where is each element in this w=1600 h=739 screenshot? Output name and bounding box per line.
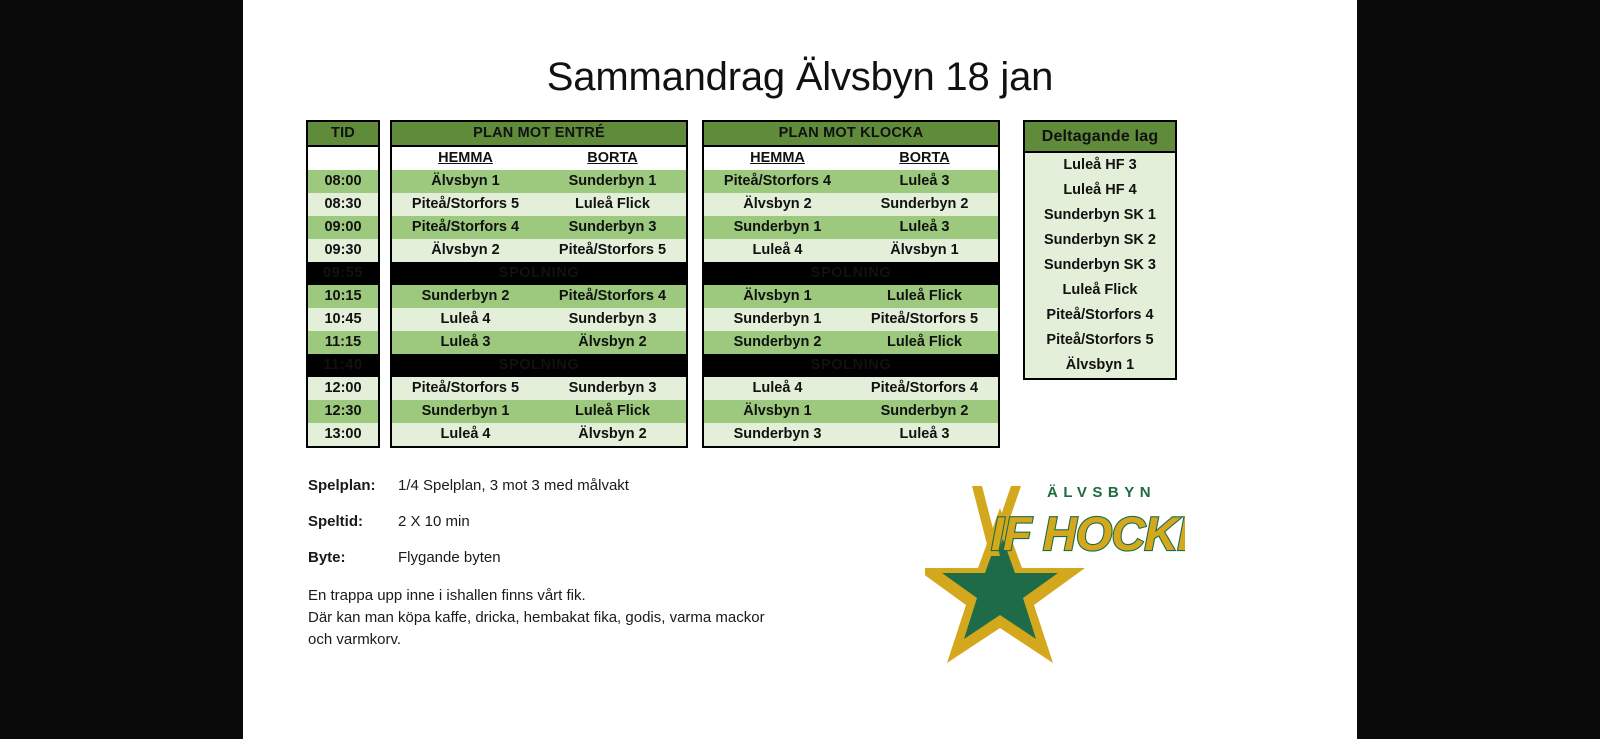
home-team-cell: Sunderbyn 3 xyxy=(704,423,851,446)
table-row: SPOLNING xyxy=(704,262,998,285)
rink-table-entre: PLAN MOT ENTRÉHEMMABORTAÄlvsbyn 1Sunderb… xyxy=(390,120,688,448)
table-row xyxy=(308,146,378,170)
list-item: Piteå/Storfors 4 xyxy=(1025,303,1175,328)
rink-klocka-table: PLAN MOT KLOCKAHEMMABORTAPiteå/Storfors … xyxy=(704,122,998,446)
home-column-header: HEMMA xyxy=(392,146,539,170)
time-column-subheader-blank xyxy=(308,146,378,170)
away-team-cell: Älvsbyn 1 xyxy=(851,239,998,262)
time-cell: 11:15 xyxy=(308,331,378,354)
home-team-cell: Luleå 3 xyxy=(392,331,539,354)
home-team-cell: Älvsbyn 1 xyxy=(704,285,851,308)
away-team-cell: Luleå 3 xyxy=(851,216,998,239)
participating-teams-header: Deltagande lag xyxy=(1025,122,1175,152)
info-row: Byte:Flygande byten xyxy=(308,549,888,566)
info-row: Spelplan:1/4 Spelplan, 3 mot 3 med målva… xyxy=(308,477,888,494)
away-team-cell: Luleå 3 xyxy=(851,423,998,446)
time-cell: 10:45 xyxy=(308,308,378,331)
fika-note: En trappa upp inne i ishallen finns vårt… xyxy=(308,585,888,650)
home-team-cell: Piteå/Storfors 5 xyxy=(392,377,539,400)
rink-entre-header: PLAN MOT ENTRÉ xyxy=(392,122,686,146)
table-row: Luleå 4Piteå/Storfors 4 xyxy=(704,377,998,400)
home-team-cell: Älvsbyn 1 xyxy=(704,400,851,423)
time-table-body: TID 08:0008:3009:0009:3009:5510:1510:451… xyxy=(308,122,378,446)
home-team-cell: Älvsbyn 1 xyxy=(392,170,539,193)
document-page: Sammandrag Älvsbyn 18 jan TID 08:0008:30… xyxy=(243,0,1357,739)
home-team-cell: Älvsbyn 2 xyxy=(392,239,539,262)
table-row: HEMMABORTA xyxy=(392,146,686,170)
resurface-cell: SPOLNING xyxy=(704,262,998,285)
time-cell: 09:30 xyxy=(308,239,378,262)
time-table: TID 08:0008:3009:0009:3009:5510:1510:451… xyxy=(308,122,378,446)
time-cell: 09:55 xyxy=(308,262,378,285)
time-cell: 12:00 xyxy=(308,377,378,400)
time-cell: 11:40 xyxy=(308,354,378,377)
away-team-cell: Älvsbyn 2 xyxy=(539,331,686,354)
table-row: Älvsbyn 1Sunderbyn 1 xyxy=(392,170,686,193)
table-row: 09:55 xyxy=(308,262,378,285)
table-row: 12:30 xyxy=(308,400,378,423)
table-row: Sunderbyn 2Piteå/Storfors 4 xyxy=(392,285,686,308)
note-line: En trappa upp inne i ishallen finns vårt… xyxy=(308,585,888,607)
away-team-cell: Sunderbyn 2 xyxy=(851,193,998,216)
list-item: Luleå HF 3 xyxy=(1025,152,1175,178)
home-team-cell: Piteå/Storfors 4 xyxy=(704,170,851,193)
table-row: 09:30 xyxy=(308,239,378,262)
away-column-header: BORTA xyxy=(539,146,686,170)
home-team-cell: Sunderbyn 1 xyxy=(392,400,539,423)
away-team-cell: Sunderbyn 1 xyxy=(539,170,686,193)
table-row: Piteå/Storfors 5Sunderbyn 3 xyxy=(392,377,686,400)
info-label: Byte: xyxy=(308,549,398,566)
table-row: Luleå 4Älvsbyn 2 xyxy=(392,423,686,446)
screen-background: Sammandrag Älvsbyn 18 jan TID 08:0008:30… xyxy=(0,0,1600,739)
info-label: Speltid: xyxy=(308,513,398,530)
away-team-cell: Sunderbyn 3 xyxy=(539,377,686,400)
home-team-cell: Piteå/Storfors 5 xyxy=(392,193,539,216)
rink-klocka-header: PLAN MOT KLOCKA xyxy=(704,122,998,146)
time-column-header: TID xyxy=(308,122,378,146)
away-team-cell: Luleå Flick xyxy=(539,400,686,423)
table-row: 11:15 xyxy=(308,331,378,354)
note-line: Där kan man köpa kaffe, dricka, hembakat… xyxy=(308,607,888,629)
schedule-area: TID 08:0008:3009:0009:3009:5510:1510:451… xyxy=(306,120,1177,448)
rink-klocka-body: PLAN MOT KLOCKAHEMMABORTAPiteå/Storfors … xyxy=(704,122,998,446)
logo-name-text: IF HOCKEY xyxy=(991,507,1185,560)
away-team-cell: Luleå Flick xyxy=(539,193,686,216)
list-item: Älvsbyn 1 xyxy=(1025,353,1175,378)
page-title: Sammandrag Älvsbyn 18 jan xyxy=(243,55,1357,100)
table-row: 10:45 xyxy=(308,308,378,331)
table-row: Sunderbyn 1Piteå/Storfors 5 xyxy=(704,308,998,331)
table-row: Piteå/Storfors 5Luleå Flick xyxy=(392,193,686,216)
table-row: SPOLNING xyxy=(392,354,686,377)
table-row: Sunderbyn 1Luleå Flick xyxy=(392,400,686,423)
rink-entre-table: PLAN MOT ENTRÉHEMMABORTAÄlvsbyn 1Sunderb… xyxy=(392,122,686,446)
team-name-cell: Luleå HF 3 xyxy=(1025,152,1175,178)
team-name-cell: Piteå/Storfors 5 xyxy=(1025,328,1175,353)
time-cell: 13:00 xyxy=(308,423,378,446)
list-item: Luleå HF 4 xyxy=(1025,178,1175,203)
time-column-table: TID 08:0008:3009:0009:3009:5510:1510:451… xyxy=(306,120,380,448)
table-row: Luleå 4Sunderbyn 3 xyxy=(392,308,686,331)
rink-entre-body: PLAN MOT ENTRÉHEMMABORTAÄlvsbyn 1Sunderb… xyxy=(392,122,686,446)
logo-svg: ÄLVSBYN IF HOCKEY xyxy=(925,468,1185,663)
list-item: Sunderbyn SK 3 xyxy=(1025,253,1175,278)
info-rows: Spelplan:1/4 Spelplan, 3 mot 3 med målva… xyxy=(308,477,888,566)
table-row: SPOLNING xyxy=(392,262,686,285)
away-label: BORTA xyxy=(587,150,637,166)
resurface-cell: SPOLNING xyxy=(392,262,686,285)
away-team-cell: Piteå/Storfors 4 xyxy=(851,377,998,400)
alvsbyn-if-hockey-logo: ÄLVSBYN IF HOCKEY xyxy=(925,468,1185,663)
away-team-cell: Luleå 3 xyxy=(851,170,998,193)
info-value: 1/4 Spelplan, 3 mot 3 med målvakt xyxy=(398,477,629,494)
away-team-cell: Älvsbyn 2 xyxy=(539,423,686,446)
time-cell: 10:15 xyxy=(308,285,378,308)
info-block: Spelplan:1/4 Spelplan, 3 mot 3 med målva… xyxy=(308,477,888,650)
info-value: Flygande byten xyxy=(398,549,501,566)
away-team-cell: Piteå/Storfors 4 xyxy=(539,285,686,308)
home-team-cell: Luleå 4 xyxy=(392,423,539,446)
team-name-cell: Luleå HF 4 xyxy=(1025,178,1175,203)
table-row: 09:00 xyxy=(308,216,378,239)
table-row: Älvsbyn 2Sunderbyn 2 xyxy=(704,193,998,216)
time-cell: 09:00 xyxy=(308,216,378,239)
home-team-cell: Sunderbyn 2 xyxy=(392,285,539,308)
teams-table: Deltagande lagLuleå HF 3Luleå HF 4Sunder… xyxy=(1025,122,1175,378)
table-row: Älvsbyn 2Piteå/Storfors 5 xyxy=(392,239,686,262)
time-cell: 08:30 xyxy=(308,193,378,216)
table-row: 10:15 xyxy=(308,285,378,308)
table-row: 12:00 xyxy=(308,377,378,400)
home-label: HEMMA xyxy=(438,150,493,166)
home-team-cell: Luleå 4 xyxy=(392,308,539,331)
table-row: Deltagande lag xyxy=(1025,122,1175,152)
home-team-cell: Piteå/Storfors 4 xyxy=(392,216,539,239)
away-team-cell: Sunderbyn 2 xyxy=(851,400,998,423)
participating-teams-table: Deltagande lagLuleå HF 3Luleå HF 4Sunder… xyxy=(1023,120,1177,380)
table-row: Piteå/Storfors 4Sunderbyn 3 xyxy=(392,216,686,239)
table-row: PLAN MOT ENTRÉ xyxy=(392,122,686,146)
home-team-cell: Luleå 4 xyxy=(704,239,851,262)
away-team-cell: Luleå Flick xyxy=(851,331,998,354)
list-item: Sunderbyn SK 2 xyxy=(1025,228,1175,253)
time-cell: 08:00 xyxy=(308,170,378,193)
table-row: Sunderbyn 2Luleå Flick xyxy=(704,331,998,354)
list-item: Luleå Flick xyxy=(1025,278,1175,303)
table-row: TID xyxy=(308,122,378,146)
resurface-cell: SPOLNING xyxy=(704,354,998,377)
table-row: Älvsbyn 1Luleå Flick xyxy=(704,285,998,308)
home-team-cell: Sunderbyn 1 xyxy=(704,216,851,239)
team-name-cell: Sunderbyn SK 2 xyxy=(1025,228,1175,253)
home-team-cell: Sunderbyn 2 xyxy=(704,331,851,354)
logo-club-text: ÄLVSBYN xyxy=(1047,484,1156,501)
team-name-cell: Älvsbyn 1 xyxy=(1025,353,1175,378)
home-team-cell: Sunderbyn 1 xyxy=(704,308,851,331)
away-column-header: BORTA xyxy=(851,146,998,170)
home-label: HEMMA xyxy=(750,150,805,166)
table-row: 08:00 xyxy=(308,170,378,193)
table-row: Sunderbyn 1Luleå 3 xyxy=(704,216,998,239)
list-item: Sunderbyn SK 1 xyxy=(1025,203,1175,228)
resurface-cell: SPOLNING xyxy=(392,354,686,377)
table-row: 11:40 xyxy=(308,354,378,377)
away-team-cell: Sunderbyn 3 xyxy=(539,216,686,239)
table-row: SPOLNING xyxy=(704,354,998,377)
table-row: Älvsbyn 1Sunderbyn 2 xyxy=(704,400,998,423)
rink-table-klocka: PLAN MOT KLOCKAHEMMABORTAPiteå/Storfors … xyxy=(702,120,1000,448)
team-name-cell: Piteå/Storfors 4 xyxy=(1025,303,1175,328)
team-name-cell: Sunderbyn SK 3 xyxy=(1025,253,1175,278)
home-team-cell: Luleå 4 xyxy=(704,377,851,400)
team-name-cell: Luleå Flick xyxy=(1025,278,1175,303)
away-team-cell: Luleå Flick xyxy=(851,285,998,308)
table-row: Piteå/Storfors 4Luleå 3 xyxy=(704,170,998,193)
list-item: Piteå/Storfors 5 xyxy=(1025,328,1175,353)
table-row: PLAN MOT KLOCKA xyxy=(704,122,998,146)
info-value: 2 X 10 min xyxy=(398,513,470,530)
away-label: BORTA xyxy=(899,150,949,166)
info-row: Speltid:2 X 10 min xyxy=(308,513,888,530)
away-team-cell: Sunderbyn 3 xyxy=(539,308,686,331)
home-team-cell: Älvsbyn 2 xyxy=(704,193,851,216)
table-row: Luleå 4Älvsbyn 1 xyxy=(704,239,998,262)
team-name-cell: Sunderbyn SK 1 xyxy=(1025,203,1175,228)
away-team-cell: Piteå/Storfors 5 xyxy=(851,308,998,331)
time-cell: 12:30 xyxy=(308,400,378,423)
table-row: Luleå 3Älvsbyn 2 xyxy=(392,331,686,354)
away-team-cell: Piteå/Storfors 5 xyxy=(539,239,686,262)
teams-table-body: Deltagande lagLuleå HF 3Luleå HF 4Sunder… xyxy=(1025,122,1175,378)
table-row: 13:00 xyxy=(308,423,378,446)
info-label: Spelplan: xyxy=(308,477,398,494)
note-line: och varmkorv. xyxy=(308,629,888,651)
table-row: HEMMABORTA xyxy=(704,146,998,170)
table-row: 08:30 xyxy=(308,193,378,216)
table-row: Sunderbyn 3Luleå 3 xyxy=(704,423,998,446)
home-column-header: HEMMA xyxy=(704,146,851,170)
